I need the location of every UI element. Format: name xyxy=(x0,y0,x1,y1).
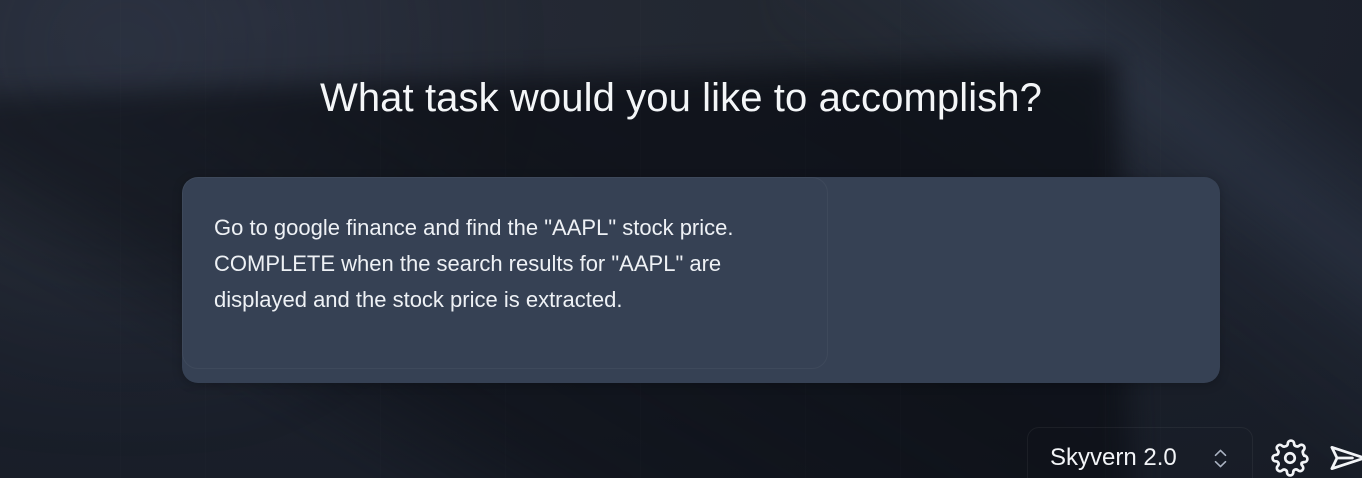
task-prompt-input[interactable] xyxy=(182,177,828,369)
prompt-card: Skyvern 2.0 xyxy=(182,177,1220,383)
page-content: What task would you like to accomplish? … xyxy=(0,0,1362,478)
model-select[interactable]: Skyvern 2.0 xyxy=(1027,427,1253,478)
app-root: What task would you like to accomplish? … xyxy=(0,0,1362,478)
gear-icon xyxy=(1271,439,1309,477)
send-button[interactable] xyxy=(1325,435,1362,478)
model-select-value: Skyvern 2.0 xyxy=(1050,444,1212,472)
send-icon xyxy=(1326,436,1362,478)
chevron-up-down-icon xyxy=(1212,445,1228,471)
page-title: What task would you like to accomplish? xyxy=(0,74,1362,122)
prompt-controls: Skyvern 2.0 xyxy=(1027,427,1362,478)
settings-button[interactable] xyxy=(1267,435,1313,478)
